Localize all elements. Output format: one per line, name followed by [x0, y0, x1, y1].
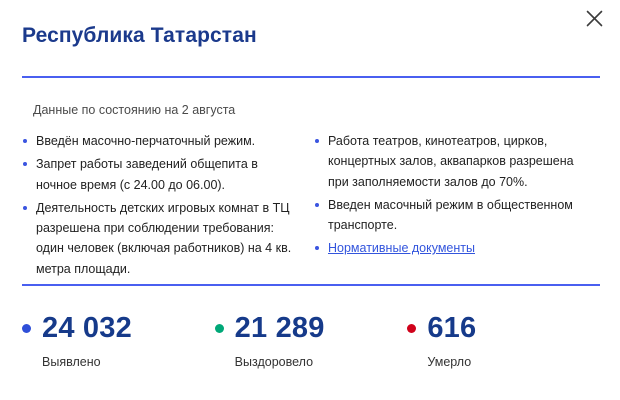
- list-item: Работа театров, кинотеатров, цирков, кон…: [314, 131, 592, 192]
- divider-top: [22, 76, 600, 78]
- stat-value: 24 032: [42, 312, 132, 345]
- stat-value-row: 24 032: [22, 310, 215, 346]
- stat-confirmed: 24 032 Выявлено: [22, 310, 215, 369]
- list-item: Введён масочно-перчаточный режим.: [22, 131, 300, 151]
- statistics-row: 24 032 Выявлено 21 289 Выздоровело 616 У…: [22, 310, 600, 369]
- measures-column-right: Работа театров, кинотеатров, цирков, кон…: [314, 131, 592, 282]
- as-of-date: Данные по состоянию на 2 августа: [33, 103, 235, 117]
- measure-text: Запрет работы заведений общепита в ночно…: [36, 157, 258, 191]
- stat-label: Умерло: [427, 355, 600, 369]
- stat-value-row: 21 289: [215, 310, 408, 346]
- stat-value-row: 616: [407, 310, 600, 346]
- stat-label: Выздоровело: [235, 355, 408, 369]
- stat-deaths: 616 Умерло: [407, 310, 600, 369]
- normative-documents-link[interactable]: Нормативные документы: [328, 241, 475, 255]
- measures-list-right: Работа театров, кинотеатров, цирков, кон…: [314, 131, 592, 259]
- measure-text: Работа театров, кинотеатров, цирков, кон…: [328, 134, 574, 189]
- stat-value: 21 289: [235, 312, 325, 345]
- stat-recovered: 21 289 Выздоровело: [215, 310, 408, 369]
- stat-value: 616: [427, 312, 476, 345]
- status-dot-confirmed-icon: [22, 324, 31, 333]
- measures-list-left: Введён масочно-перчаточный режим. Запрет…: [22, 131, 300, 279]
- measure-text: Деятельность детских игровых комнат в ТЦ…: [36, 201, 291, 276]
- status-dot-deaths-icon: [407, 324, 416, 333]
- stat-label: Выявлено: [42, 355, 215, 369]
- divider-bottom: [22, 284, 600, 286]
- measures-column-left: Введён масочно-перчаточный режим. Запрет…: [22, 131, 300, 282]
- measures-columns: Введён масочно-перчаточный режим. Запрет…: [22, 131, 600, 282]
- status-dot-recovered-icon: [215, 324, 224, 333]
- list-item: Введен масочный режим в общественном тра…: [314, 195, 592, 236]
- page-title: Республика Татарстан: [22, 24, 257, 48]
- measure-text: Введён масочно-перчаточный режим.: [36, 134, 255, 148]
- measure-text: Введен масочный режим в общественном тра…: [328, 198, 573, 232]
- close-icon-glyph: [586, 10, 603, 27]
- close-icon[interactable]: [580, 4, 608, 32]
- list-item: Деятельность детских игровых комнат в ТЦ…: [22, 198, 300, 279]
- list-item: Нормативные документы: [314, 238, 592, 258]
- region-covid-stats-card: Республика Татарстан Данные по состоянию…: [0, 0, 620, 400]
- list-item: Запрет работы заведений общепита в ночно…: [22, 154, 300, 195]
